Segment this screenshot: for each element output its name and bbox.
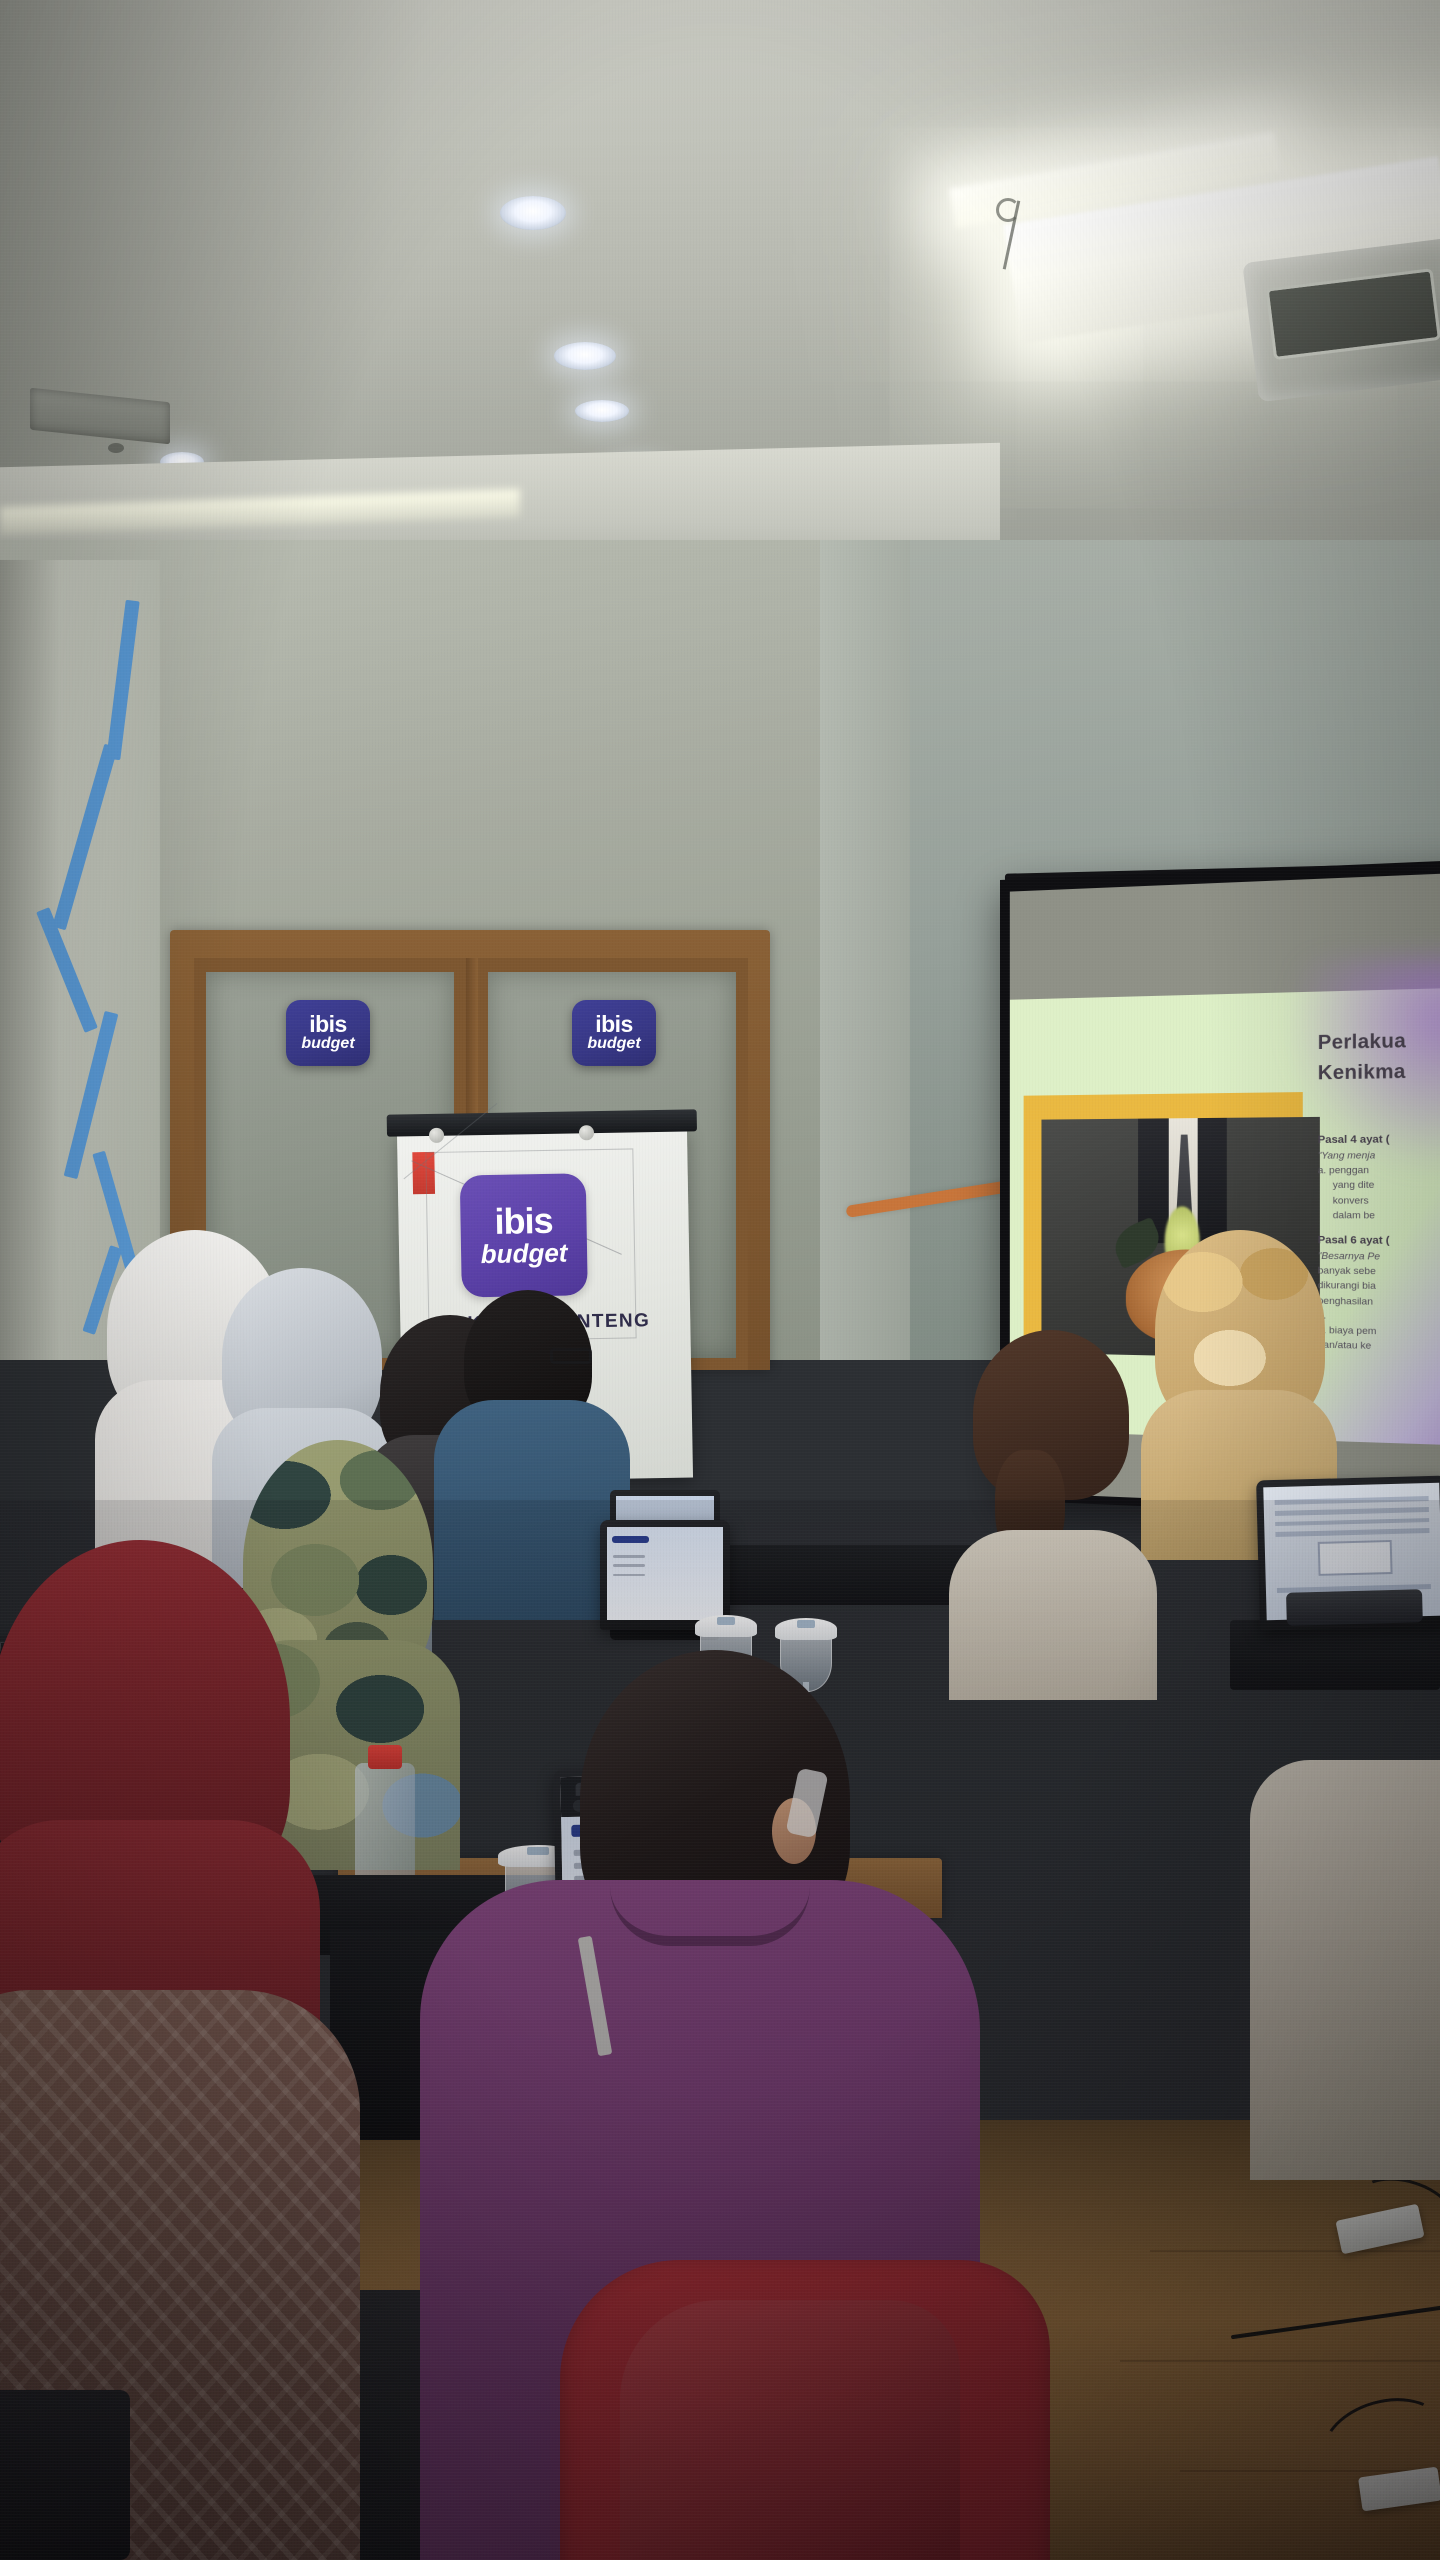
person-blue-shirt: [440, 1290, 620, 1610]
ceiling-downlight: [575, 400, 629, 422]
person-purple-shirt: [420, 1650, 980, 2560]
flipchart-logo-line2: budget: [481, 1238, 568, 1268]
glasses-icon: [550, 1348, 592, 1364]
goblet-cover: [695, 1615, 757, 1637]
ceiling-hook: [996, 198, 1020, 222]
slide-section1-item-a2: yang dite: [1333, 1178, 1440, 1193]
shirt-collar: [610, 1886, 810, 1946]
person-body: [1250, 1760, 1440, 2180]
laptop-back-row[interactable]: [600, 1520, 730, 1630]
goblet-cover-tab: [717, 1617, 734, 1625]
table-right: [1230, 1620, 1440, 1690]
spreadsheet-row: [1274, 1496, 1429, 1505]
laptop-page-line: [613, 1564, 645, 1567]
slide-body: Pasal 4 ayat ( "Yang menja a. penggan ya…: [1318, 1121, 1440, 1358]
ac-vent: [1266, 268, 1440, 360]
ceiling-downlight: [554, 342, 616, 370]
goblet-cover: [775, 1618, 837, 1640]
ceiling-ac-unit: [1242, 238, 1440, 403]
slide-section1-heading: Pasal 4 ayat (: [1318, 1131, 1440, 1149]
slide-section1-item-a3: konvers: [1333, 1194, 1440, 1209]
goblet-cover-tab: [797, 1620, 814, 1628]
slide-section1-item-a4: dalam be: [1333, 1209, 1440, 1225]
floor-plank-line: [1120, 2360, 1440, 2362]
slide-section2-heading: Pasal 6 ayat (: [1318, 1233, 1440, 1251]
spreadsheet-row: [1275, 1518, 1430, 1527]
slide-section3-item2: dan/atau ke: [1318, 1339, 1440, 1358]
chair-front-left: [0, 2390, 130, 2560]
ibis-logo-line2: budget: [587, 1036, 640, 1053]
laptop-page-header: [612, 1536, 649, 1543]
ibis-budget-logo-sign: ibis budget: [286, 1000, 370, 1066]
ceiling-downlight: [500, 196, 566, 230]
person-body: [949, 1530, 1157, 1700]
jacket-fold: [620, 2300, 960, 2560]
person-right-side: [1250, 1760, 1440, 2180]
laptop-page-line: [613, 1555, 645, 1558]
wall-column: [820, 540, 910, 1360]
floor-plank-line: [1150, 2250, 1440, 2252]
ibis-logo-line1: ibis: [595, 1013, 633, 1036]
flipchart-logo-line1: ibis: [494, 1203, 553, 1240]
laptop-screen[interactable]: [607, 1527, 723, 1620]
slide-title-line2: Kenikma: [1318, 1055, 1440, 1088]
slide-title-line1: Perlakua: [1318, 1025, 1440, 1059]
ceiling-speaker: [108, 443, 124, 453]
laptop-keyboard[interactable]: [1286, 1589, 1424, 1626]
laptop-right-spreadsheet[interactable]: [1256, 1476, 1440, 1631]
slide-section1-quote: "Yang menja: [1318, 1148, 1440, 1164]
person-ponytail: [955, 1330, 1145, 1690]
photo-scene: ibis budget ibis budget: [0, 0, 1440, 2560]
slide-title: Perlakua Kenikma: [1318, 1025, 1440, 1089]
flipchart-ibis-budget-logo: ibis budget: [460, 1173, 588, 1297]
bottle-cap: [368, 1745, 402, 1769]
left-wall-shadow: [0, 560, 60, 1360]
ibis-budget-logo-sign: ibis budget: [572, 1000, 656, 1066]
spreadsheet-row: [1274, 1507, 1429, 1516]
ibis-logo-line2: budget: [301, 1036, 354, 1053]
spreadsheet-row: [1275, 1528, 1430, 1537]
slide-section1-item-a: a. penggan: [1318, 1163, 1440, 1179]
ibis-logo-line1: ibis: [309, 1013, 347, 1036]
red-jacket-on-chair: [560, 2260, 1050, 2560]
spreadsheet-block: [1317, 1540, 1392, 1577]
